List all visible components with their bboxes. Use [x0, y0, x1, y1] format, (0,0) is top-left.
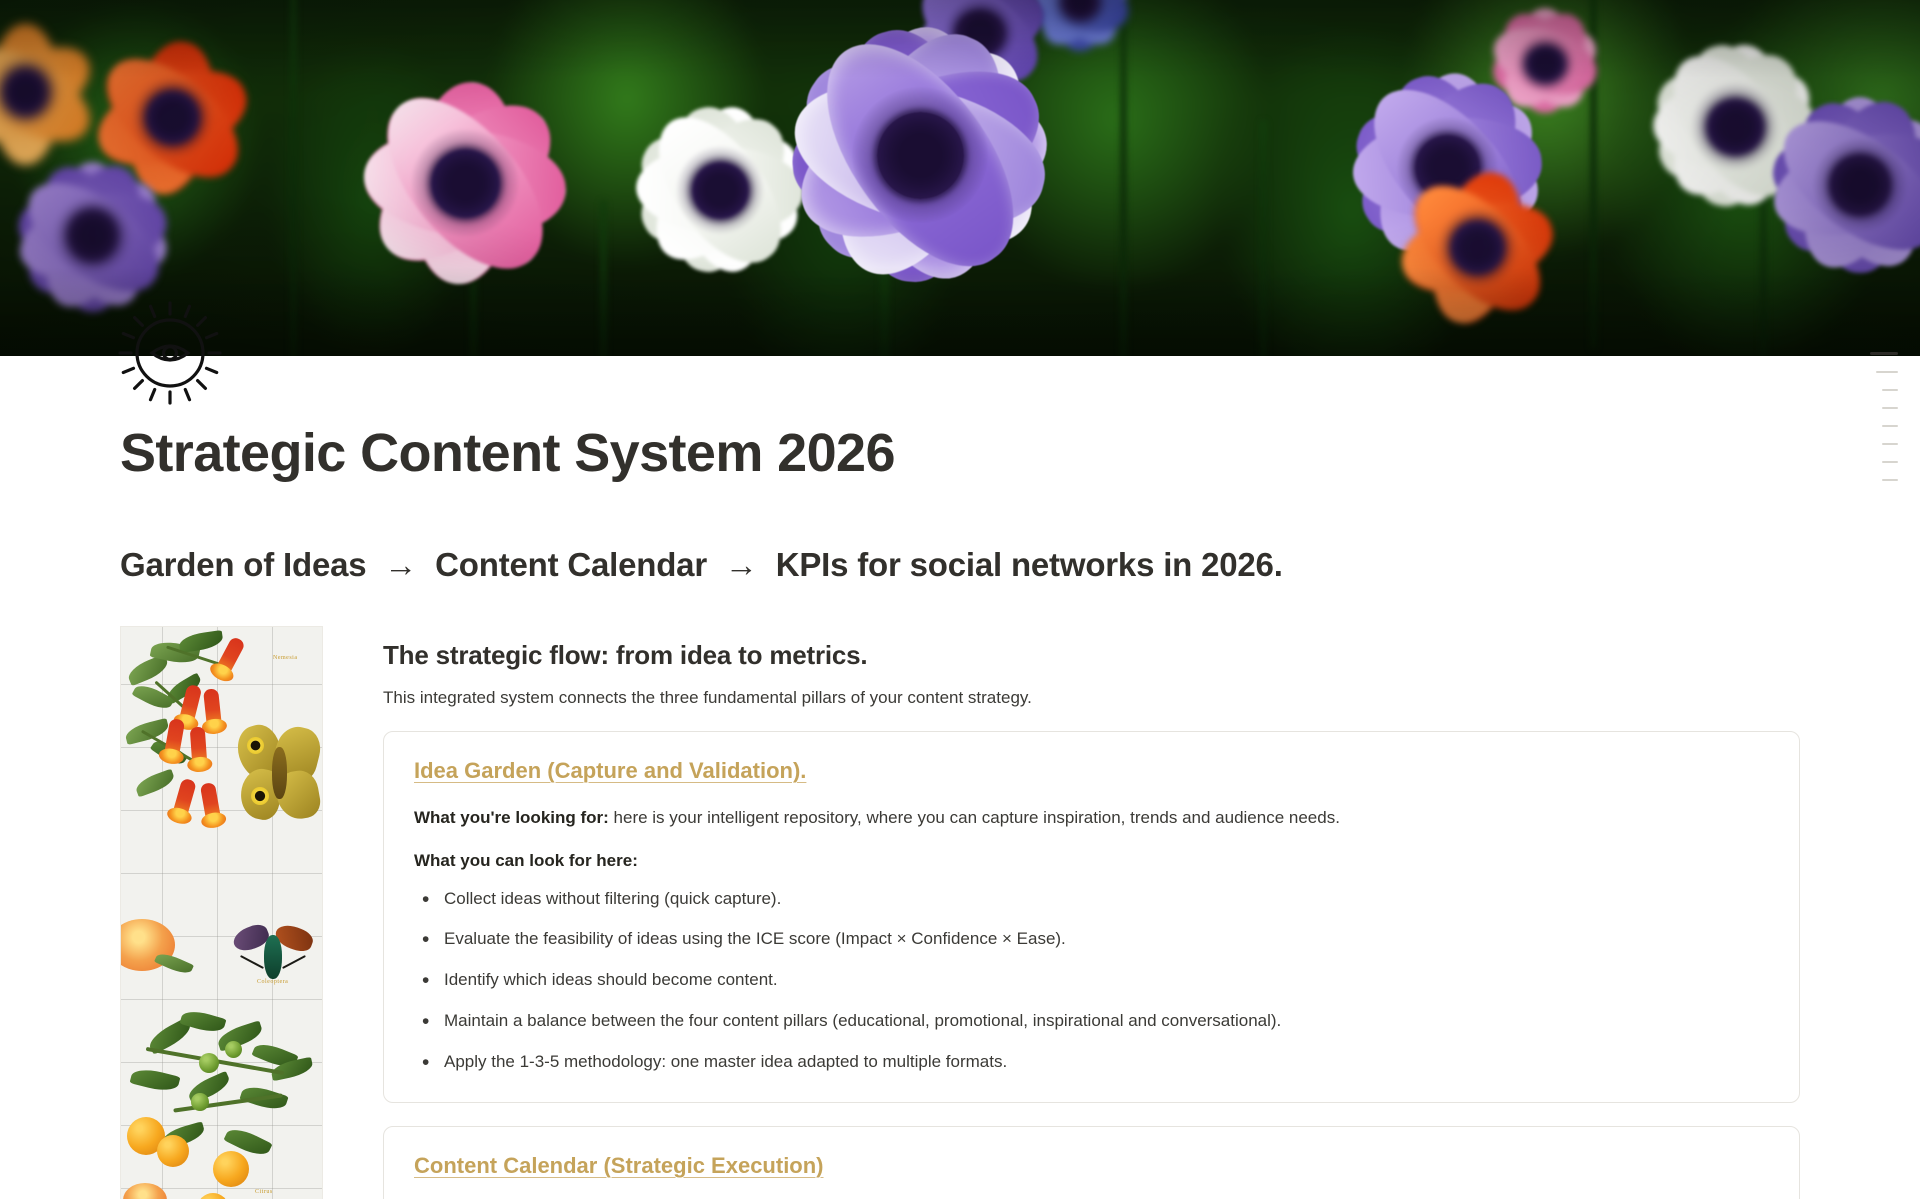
document-outline-rail[interactable]	[1870, 352, 1898, 481]
hero-vignette	[0, 0, 1920, 356]
card-idea-garden: Idea Garden (Capture and Validation). Wh…	[383, 731, 1800, 1103]
moth-illustration	[239, 725, 321, 821]
section-title-strategic-flow: The strategic flow: from idea to metrics…	[383, 640, 1800, 671]
hero-banner	[0, 0, 1920, 356]
breadcrumb-item-garden: Garden of Ideas	[120, 546, 366, 583]
outline-tick[interactable]	[1882, 443, 1898, 445]
grid-background	[121, 627, 322, 1199]
breadcrumb-arrow: →	[375, 546, 426, 583]
card-looking-for-text: here is your intelligent repository, whe…	[609, 808, 1340, 827]
list-item: Identify which ideas should become conte…	[414, 968, 1769, 992]
botanical-illustration: Nemesia	[120, 626, 323, 1199]
list-item: Apply the 1-3-5 methodology: one master …	[414, 1050, 1769, 1074]
page-title: Strategic Content System 2026	[120, 422, 1800, 484]
breadcrumb-arrow: →	[716, 546, 767, 583]
outline-tick[interactable]	[1876, 371, 1898, 373]
main-content-column: The strategic flow: from idea to metrics…	[383, 626, 1800, 1199]
outline-tick[interactable]	[1882, 479, 1898, 481]
card-looking-for-label: What you're looking for:	[414, 808, 609, 827]
sun-eye-icon	[100, 283, 240, 423]
outline-tick[interactable]	[1882, 389, 1898, 391]
list-item: Collect ideas without filtering (quick c…	[414, 887, 1769, 911]
card-sublabel: What you can look for here:	[414, 851, 1769, 871]
link-idea-garden[interactable]: Idea Garden (Capture and Validation).	[414, 758, 806, 784]
breadcrumb: Garden of Ideas → Content Calendar → KPI…	[120, 546, 1800, 584]
card-looking-for-line: What you're looking for: here is your in…	[414, 806, 1769, 831]
card-content-calendar: Content Calendar (Strategic Execution) W…	[383, 1126, 1800, 1199]
card-bullet-list: Collect ideas without filtering (quick c…	[414, 887, 1769, 1074]
page-body: Strategic Content System 2026 Garden of …	[0, 422, 1920, 1199]
beetle-illustration	[233, 925, 313, 985]
link-content-calendar[interactable]: Content Calendar (Strategic Execution)	[414, 1153, 824, 1179]
section-subtitle: This integrated system connects the thre…	[383, 688, 1800, 708]
outline-tick[interactable]	[1882, 407, 1898, 409]
list-item: Maintain a balance between the four cont…	[414, 1009, 1769, 1033]
hero-flower-photo	[0, 0, 1920, 356]
breadcrumb-item-kpis: KPIs for social networks in 2026.	[776, 546, 1283, 583]
illustration-label: Nemesia	[273, 655, 298, 661]
outline-tick[interactable]	[1882, 425, 1898, 427]
outline-tick-active[interactable]	[1870, 352, 1898, 355]
illustration-label: Coleoptera	[257, 979, 288, 985]
breadcrumb-item-calendar: Content Calendar	[435, 546, 707, 583]
illustration-label: Citrus	[255, 1189, 273, 1195]
illustration-column: Nemesia	[120, 626, 323, 1199]
outline-tick[interactable]	[1882, 461, 1898, 463]
list-item: Evaluate the feasibility of ideas using …	[414, 927, 1769, 951]
